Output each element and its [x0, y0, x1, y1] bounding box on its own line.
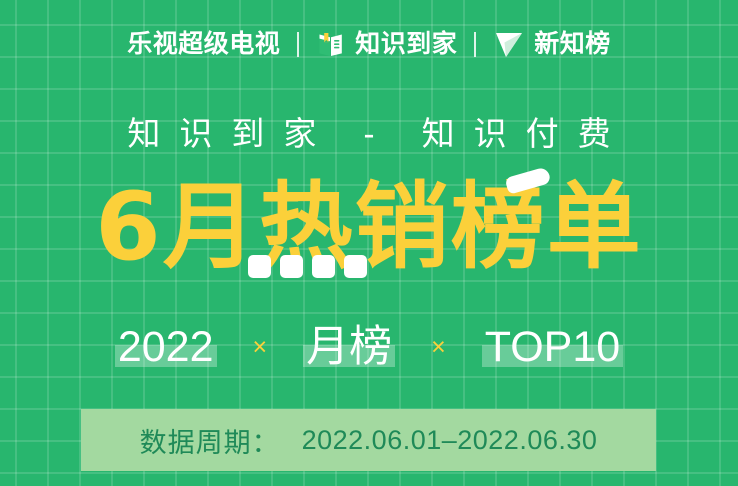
subtitle: 知识到家 - 知识付费: [0, 112, 738, 156]
brand-group-xinzhibang: 新知榜: [493, 29, 611, 59]
meta-item-year: 2022: [115, 318, 217, 376]
meta-item-rank: TOP10: [482, 318, 623, 376]
meta-separator-2: ×: [431, 318, 446, 376]
square-dot: [344, 255, 367, 278]
meta-item-period: 月榜: [303, 318, 395, 376]
triangle-arrow-icon: [493, 29, 525, 59]
meta-label-year: 2022: [118, 323, 214, 371]
book-icon: [316, 29, 346, 59]
data-period-banner: 数据周期： 2022.06.01–2022.06.30: [81, 409, 656, 471]
brand-divider-2: [474, 32, 476, 57]
square-dots-decoration: [248, 255, 367, 278]
brand-group-zhishidaojia: 知识到家: [316, 29, 457, 59]
poster-root: 乐视超级电视 知识到家: [0, 0, 738, 486]
square-dot: [280, 255, 303, 278]
brand-label-zhishidaojia: 知识到家: [355, 32, 457, 57]
brand-label-letv: 乐视超级电视: [127, 32, 280, 57]
brand-row: 乐视超级电视 知识到家: [0, 24, 738, 64]
main-title-wrapper: 6月热销榜单: [0, 178, 738, 278]
page-title: 6月热销榜单: [95, 178, 642, 278]
data-period-value: 2022.06.01–2022.06.30: [302, 425, 598, 456]
square-dot: [248, 255, 271, 278]
brand-label-xinzhibang: 新知榜: [534, 32, 611, 57]
meta-separator-1: ×: [253, 318, 268, 376]
brand-divider-1: [297, 32, 299, 57]
data-period-label: 数据周期：: [140, 421, 280, 460]
square-dot: [312, 255, 335, 278]
meta-label-rank: TOP10: [485, 323, 620, 371]
meta-label-period: 月榜: [306, 323, 392, 371]
meta-row: 2022 × 月榜 × TOP10: [0, 318, 738, 376]
